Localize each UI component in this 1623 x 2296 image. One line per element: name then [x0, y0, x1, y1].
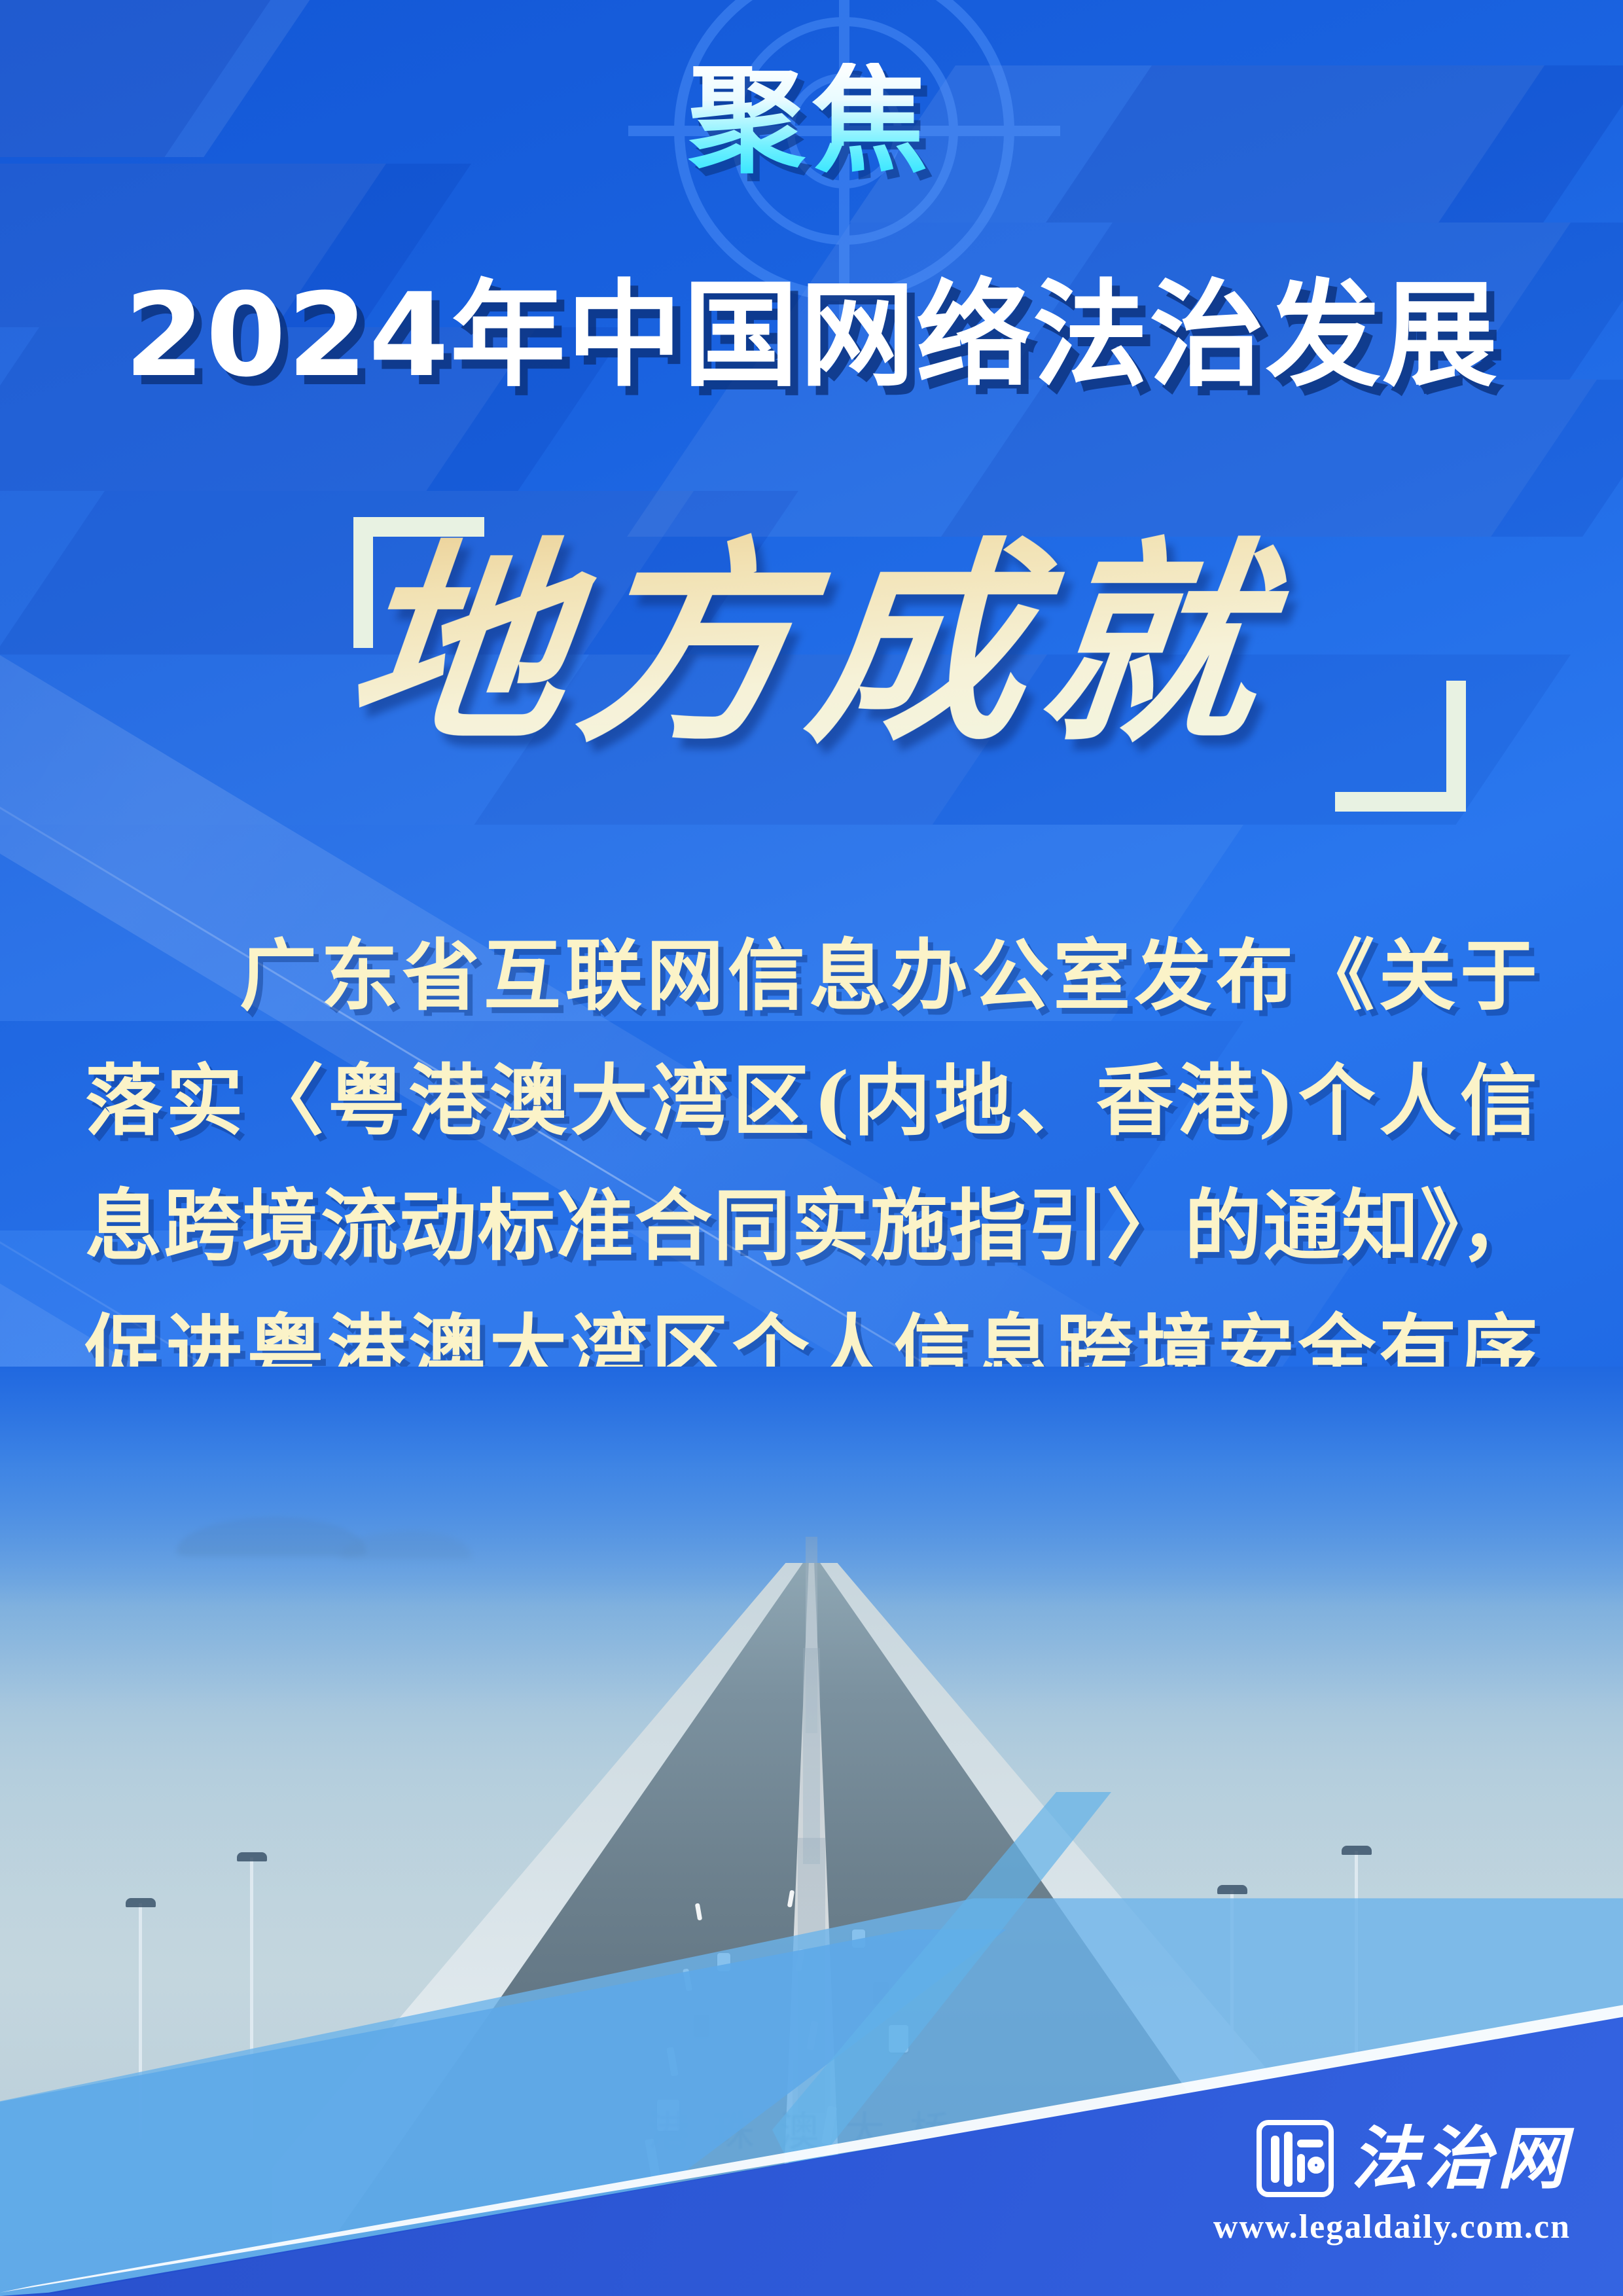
brand-name: 法治网: [1351, 2125, 1571, 2193]
site-url[interactable]: www.legaldaily.com.cn: [1213, 2208, 1571, 2246]
footer-logo[interactable]: 法治网 www.legaldaily.com.cn: [1213, 2120, 1571, 2246]
calligraphy-block: 地方成就: [0, 484, 1623, 851]
lamp-head-icon: [126, 1898, 156, 1907]
calligraphy-title: 地方成就: [0, 524, 1623, 766]
page-title: 2024年中国网络法治发展: [0, 275, 1623, 397]
eyebrow-label: 聚焦: [688, 63, 935, 179]
bridge-pylon: [803, 1648, 820, 1864]
eyebrow-block: 聚焦: [0, 63, 1623, 179]
legal-daily-seal-icon: [1257, 2120, 1334, 2197]
lamp-head-icon: [237, 1852, 267, 1861]
lamp-head-icon: [1342, 1846, 1372, 1855]
lamp-head-icon: [1217, 1885, 1247, 1894]
poster-root: 聚焦 2024年中国网络法治发展 地方成就 广东省互联网信息办公室发布《关于落实…: [0, 0, 1623, 2296]
